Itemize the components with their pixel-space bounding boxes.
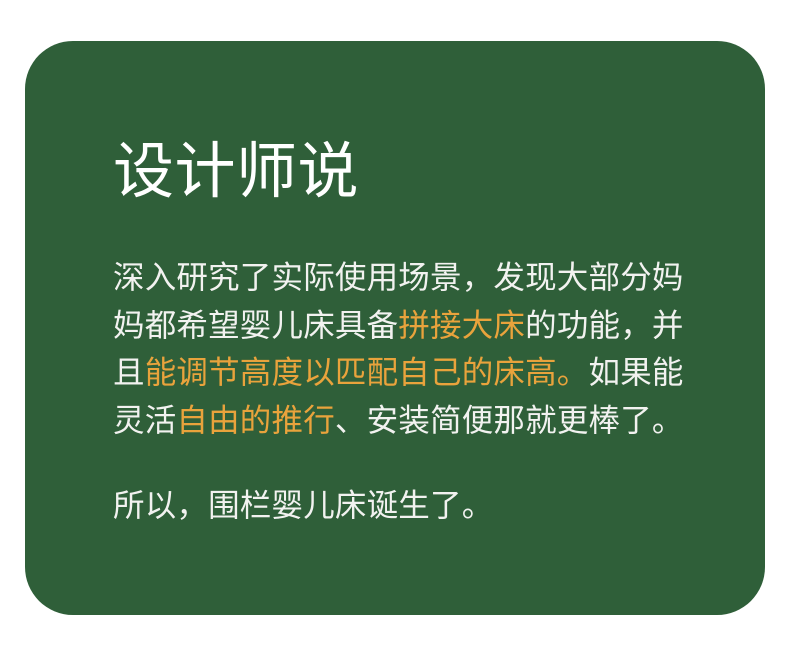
page-title: 设计师说 bbox=[113, 137, 359, 205]
paragraph-1-segment-6-accent: 自由的推行 bbox=[176, 402, 335, 438]
paragraph-2: 所以，围栏婴儿床诞生了。 bbox=[113, 482, 693, 530]
paragraph-1-segment-2-accent: 拼接大床 bbox=[398, 307, 525, 343]
screenshot-canvas: 设计师说 深入研究了实际使用场景，发现大部分妈妈都希望婴儿床具备拼接大床的功能，… bbox=[0, 0, 790, 657]
paragraph-1-segment-7-plain: 、安装简便那就更棒了。 bbox=[335, 402, 684, 438]
paragraph-1: 深入研究了实际使用场景，发现大部分妈妈都希望婴儿床具备拼接大床的功能，并且能调节… bbox=[113, 254, 693, 444]
designer-statement-card: 设计师说 深入研究了实际使用场景，发现大部分妈妈都希望婴儿床具备拼接大床的功能，… bbox=[25, 41, 765, 615]
designer-statement-body: 深入研究了实际使用场景，发现大部分妈妈都希望婴儿床具备拼接大床的功能，并且能调节… bbox=[113, 254, 693, 530]
paragraph-2-segment-1-plain: 所以，围栏婴儿床诞生了。 bbox=[113, 487, 493, 523]
paragraph-1-segment-4-accent: 能调节高度以匹配自己的床高。 bbox=[145, 354, 589, 390]
paragraph-spacer bbox=[113, 444, 693, 482]
